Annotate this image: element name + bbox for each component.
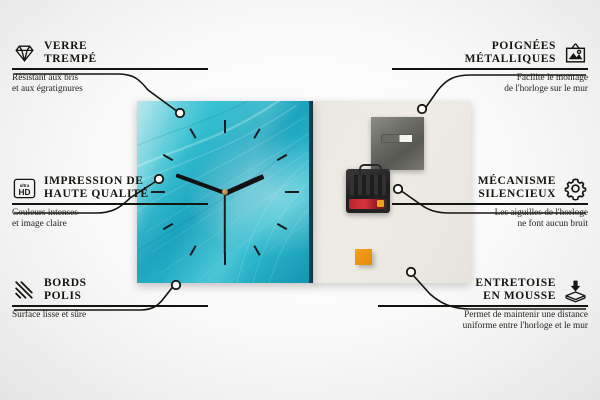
tick-mark (189, 245, 196, 256)
feature-title: IMPRESSION DE HAUTE QUALITÉ (44, 175, 149, 201)
clock-mechanism (346, 169, 390, 213)
tick-mark (285, 191, 299, 193)
feature-description: Facilite le montage de l'horloge sur le … (392, 73, 588, 95)
feature-poignees-metalliques: POIGNÉES MÉTALLIQUES Facilite le montage… (392, 40, 588, 95)
feature-entretoise-mousse: ENTRETOISE EN MOUSSE Permet de maintenir… (378, 277, 588, 332)
feature-header: MÉCANISME SILENCIEUX (392, 175, 588, 201)
feature-description: Les aiguilles de l'horloge ne font aucun… (392, 208, 588, 230)
divider (378, 305, 588, 307)
feature-header: ENTRETOISE EN MOUSSE (378, 277, 588, 303)
feature-header: BORDS POLIS (12, 277, 208, 303)
svg-text:HD: HD (19, 187, 31, 196)
feature-verre-trempe: VERRE TREMPÉ Résistant aux bris et aux é… (12, 40, 208, 95)
feature-header: VERRE TREMPÉ (12, 40, 208, 66)
tick-mark (253, 128, 260, 139)
feature-title: BORDS POLIS (44, 277, 87, 303)
diamond-icon (12, 41, 37, 66)
tick-mark (253, 245, 260, 256)
mechanism-handle (359, 164, 382, 175)
polished-edges-icon (12, 278, 37, 303)
feature-mecanisme-silencieux: MÉCANISME SILENCIEUX Les aiguilles de l'… (392, 175, 588, 230)
hanging-frame-icon (563, 41, 588, 66)
tick-mark (277, 223, 288, 230)
gear-icon (563, 176, 588, 201)
hour-hand (224, 174, 264, 195)
metal-hanger-plate (371, 117, 424, 170)
feature-bords-polis: BORDS POLIS Surface lisse et sûre (12, 277, 208, 321)
tick-mark (189, 128, 196, 139)
tick-mark (163, 154, 174, 161)
feature-description: Surface lisse et sûre (12, 310, 208, 321)
second-hand (224, 192, 226, 254)
divider (12, 305, 208, 307)
feature-description: Résistant aux bris et aux égratignures (12, 73, 208, 95)
ultra-hd-badge-icon: ultra HD (12, 176, 37, 201)
feature-title: MÉCANISME SILENCIEUX (478, 175, 556, 201)
infographic-canvas: VERRE TREMPÉ Résistant aux bris et aux é… (0, 0, 600, 400)
divider (392, 68, 588, 70)
feature-title: ENTRETOISE EN MOUSSE (475, 277, 556, 303)
divider (12, 203, 208, 205)
feature-description: Couleurs intenses et image claire (12, 208, 208, 230)
battery (349, 199, 387, 209)
feature-header: POIGNÉES MÉTALLIQUES (392, 40, 588, 66)
foam-spacer (355, 249, 372, 265)
tick-mark (277, 154, 288, 161)
feature-title: POIGNÉES MÉTALLIQUES (465, 40, 556, 66)
clock-hub (222, 189, 228, 195)
mechanism-body (350, 175, 386, 195)
divider (12, 68, 208, 70)
battery-terminal (377, 200, 384, 207)
feature-title: VERRE TREMPÉ (44, 40, 97, 66)
feature-impression-hd: ultra HD IMPRESSION DE HAUTE QUALITÉ Cou… (12, 175, 208, 230)
hanger-keyhole-slot (381, 134, 413, 143)
feature-header: ultra HD IMPRESSION DE HAUTE QUALITÉ (12, 175, 208, 201)
feature-description: Permet de maintenir une distance uniform… (378, 310, 588, 332)
foam-spacer-icon (563, 278, 588, 303)
divider (392, 203, 588, 205)
tick-mark (224, 120, 226, 133)
